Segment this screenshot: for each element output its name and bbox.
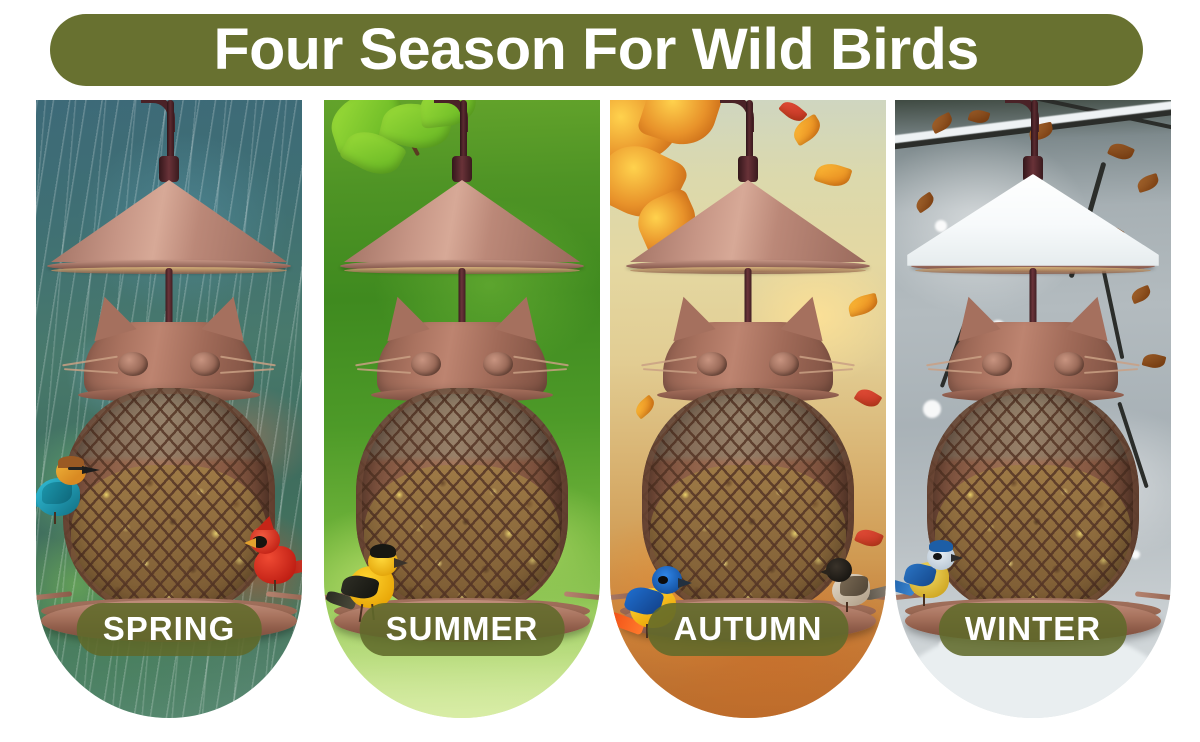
bird-icon-blue-tit	[899, 538, 961, 610]
snow-on-roof	[907, 174, 1159, 266]
season-label-winter: WINTER	[939, 603, 1127, 656]
bird-icon-bee-eater	[36, 450, 98, 528]
season-label-autumn: AUTUMN	[648, 603, 849, 656]
season-panel-summer[interactable]: SUMMER	[324, 100, 600, 718]
season-panel-winter[interactable]: WINTER	[895, 100, 1171, 718]
page-title: Four Season For Wild Birds	[214, 21, 979, 79]
title-banner: Four Season For Wild Birds	[50, 14, 1143, 86]
season-label-spring: SPRING	[77, 603, 262, 656]
season-label-summer: SUMMER	[360, 603, 565, 656]
marketing-image: Four Season For Wild Birds	[0, 0, 1200, 742]
season-panel-spring[interactable]: SPRING	[36, 100, 302, 718]
season-panel-autumn[interactable]: AUTUMN	[610, 100, 886, 718]
bird-icon-cardinal	[246, 520, 302, 592]
